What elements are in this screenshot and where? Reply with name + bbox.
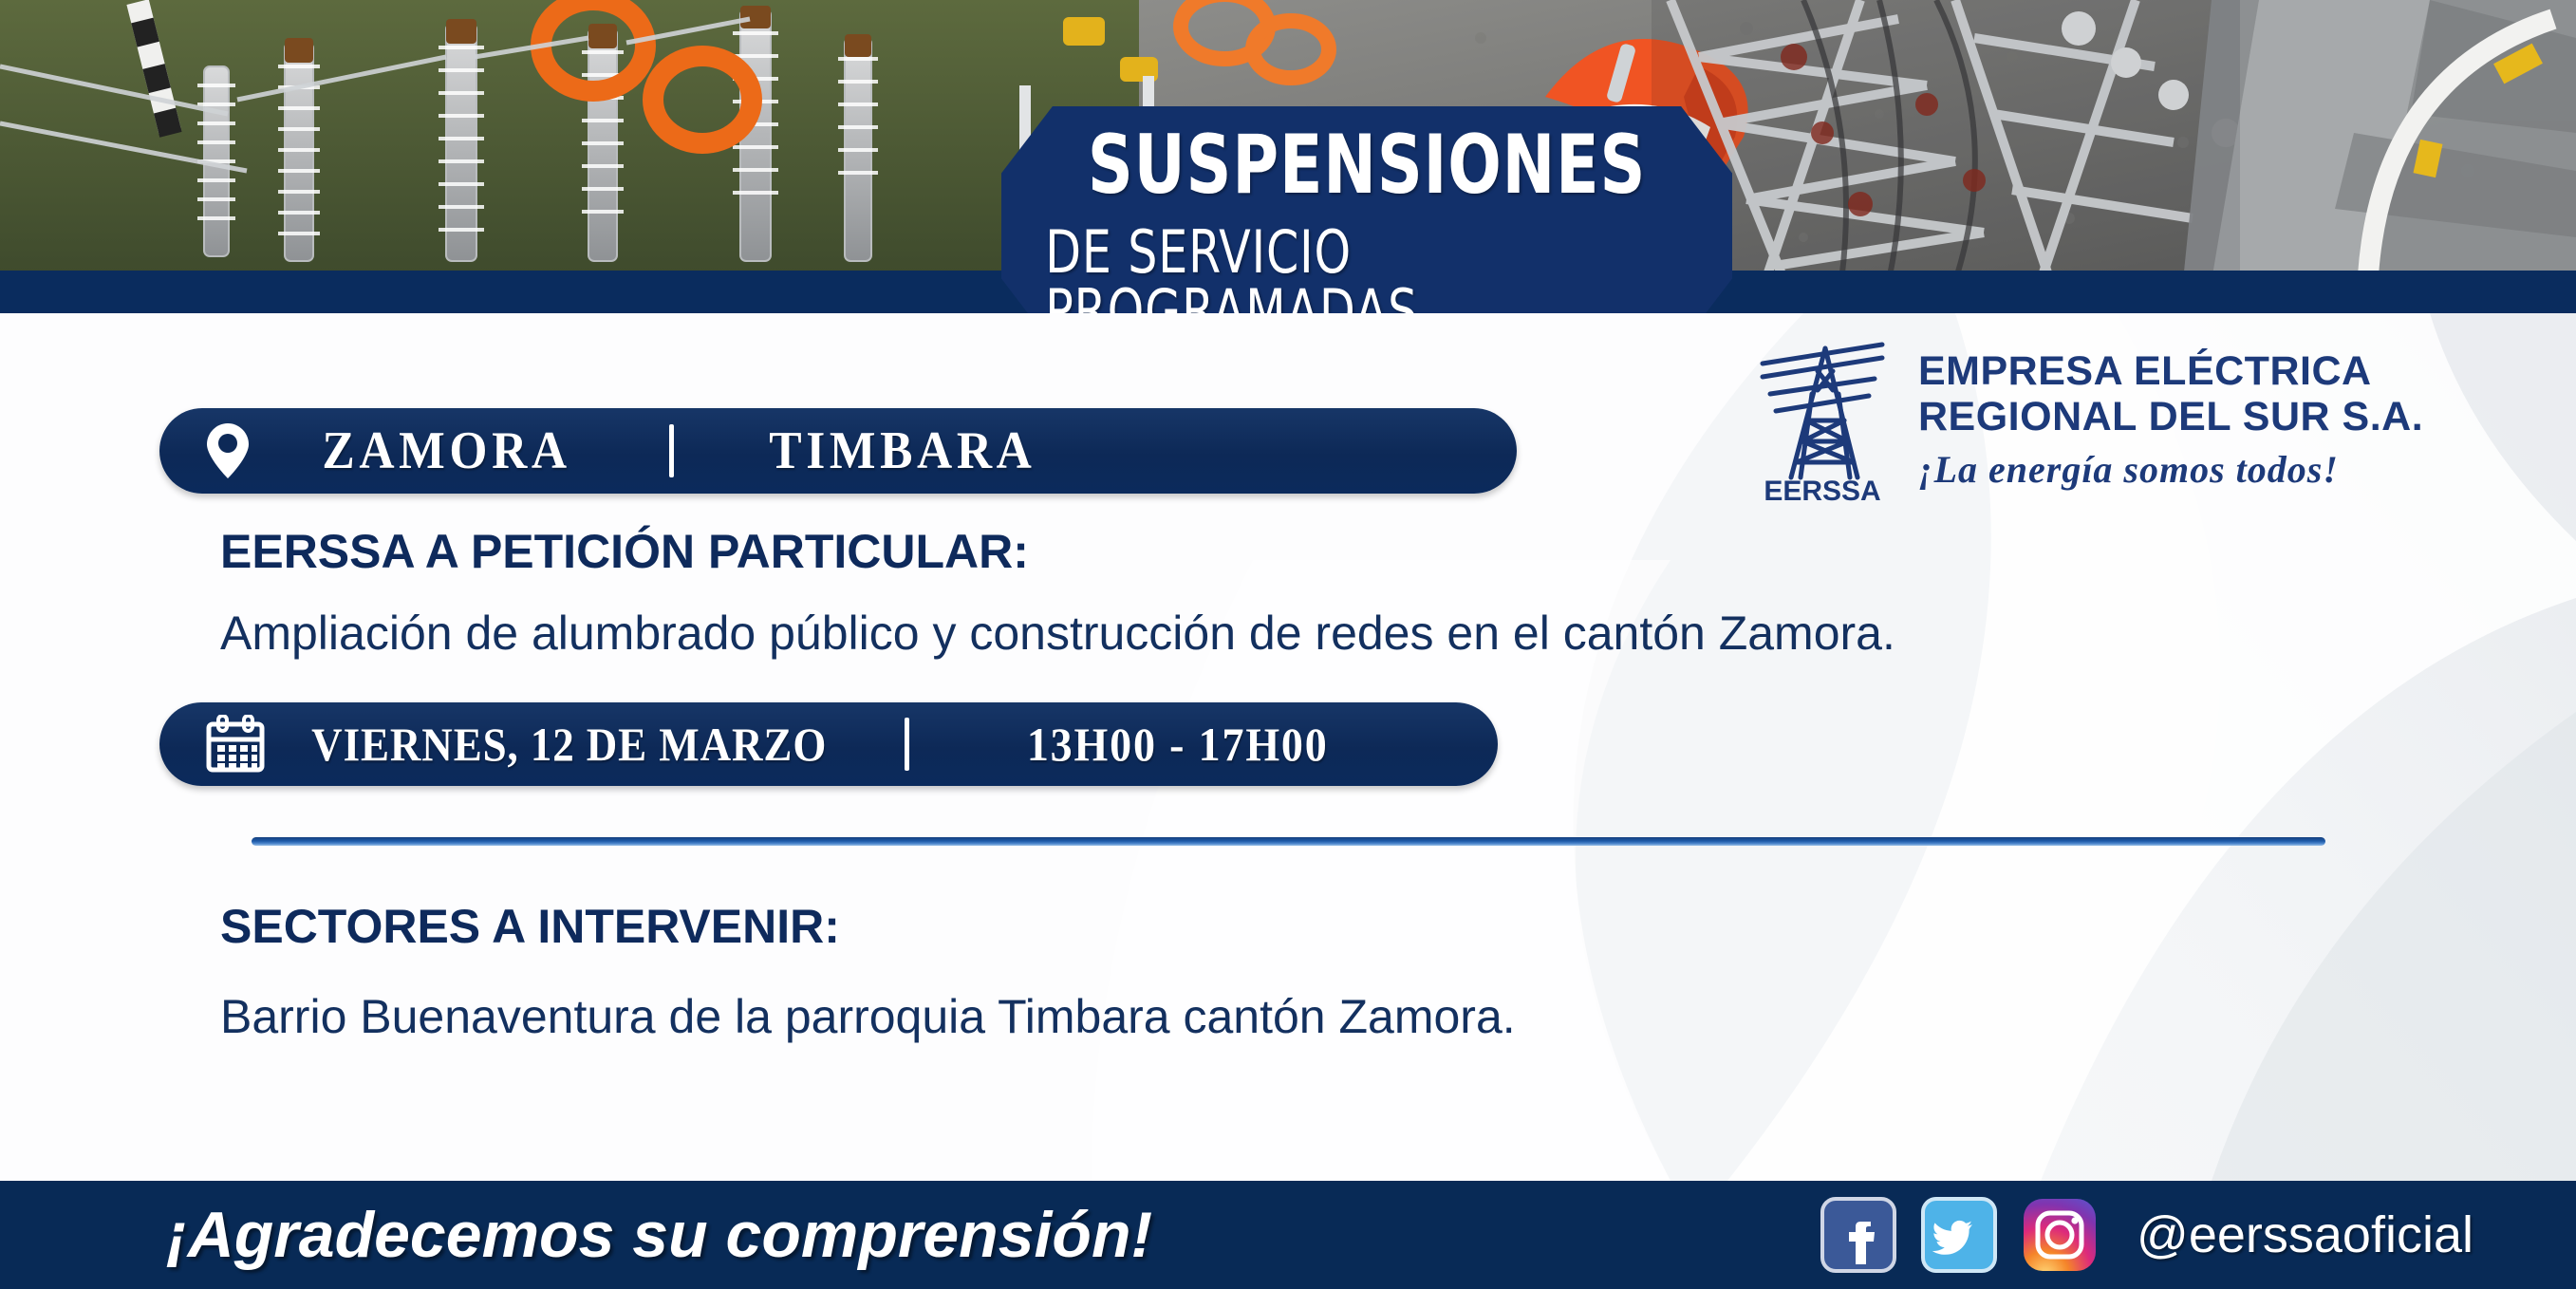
section-divider (252, 837, 2325, 846)
footer-message: ¡Agradecemos su comprensión! (166, 1198, 1152, 1272)
reason-text: Ampliación de alumbrado público y constr… (220, 606, 1895, 661)
pill-separator (669, 424, 674, 477)
logo-line-2: REGIONAL DEL SUR S.A. (1918, 394, 2423, 439)
facebook-icon[interactable] (1820, 1196, 1897, 1274)
instagram-icon[interactable] (2021, 1196, 2099, 1274)
footer-bar: ¡Agradecemos su comprensión! (0, 1181, 2576, 1289)
logo-text-block: EMPRESA ELÉCTRICA REGIONAL DEL SUR S.A. … (1918, 348, 2423, 492)
suspension-notice-poster: SUSPENSIONES DE SERVICIO PROGRAMADAS (0, 0, 2576, 1289)
suspension-date: VIERNES, 12 DE MARZO (311, 717, 827, 772)
poster-title: SUSPENSIONES (1088, 124, 1646, 206)
twitter-icon[interactable] (1920, 1196, 1998, 1274)
reason-heading: EERSSA A PETICIÓN PARTICULAR: (220, 524, 1029, 579)
parish-label: TIMBARA (769, 420, 1036, 481)
logo-slogan: ¡La energía somos todos! (1918, 447, 2423, 492)
logo-line-1: EMPRESA ELÉCTRICA (1918, 348, 2423, 394)
pill-separator (905, 718, 909, 771)
calendar-icon (205, 715, 266, 774)
social-links: @eerssaoficial (1820, 1196, 2473, 1274)
sectors-heading: SECTORES A INTERVENIR: (220, 899, 840, 954)
date-time-pill[interactable]: VIERNES, 12 DE MARZO 13H00 - 17H00 (159, 702, 1498, 786)
social-handle[interactable]: @eerssaoficial (2137, 1205, 2473, 1264)
map-pin-icon (207, 423, 249, 478)
canton-label: ZAMORA (322, 420, 570, 481)
eerssa-logo: EERSSA EMPRESA ELÉCTRICA REGIONAL DEL SU… (1751, 337, 2423, 503)
suspension-time: 13H00 - 17H00 (1027, 717, 1329, 772)
sectors-text: Barrio Buenaventura de la parroquia Timb… (220, 989, 1516, 1044)
title-banner: SUSPENSIONES DE SERVICIO PROGRAMADAS (1001, 106, 1732, 346)
svg-text:EERSSA: EERSSA (1764, 476, 1880, 503)
transmission-tower-icon: EERSSA (1751, 337, 1894, 503)
location-pill[interactable]: ZAMORA TIMBARA (159, 408, 1517, 494)
